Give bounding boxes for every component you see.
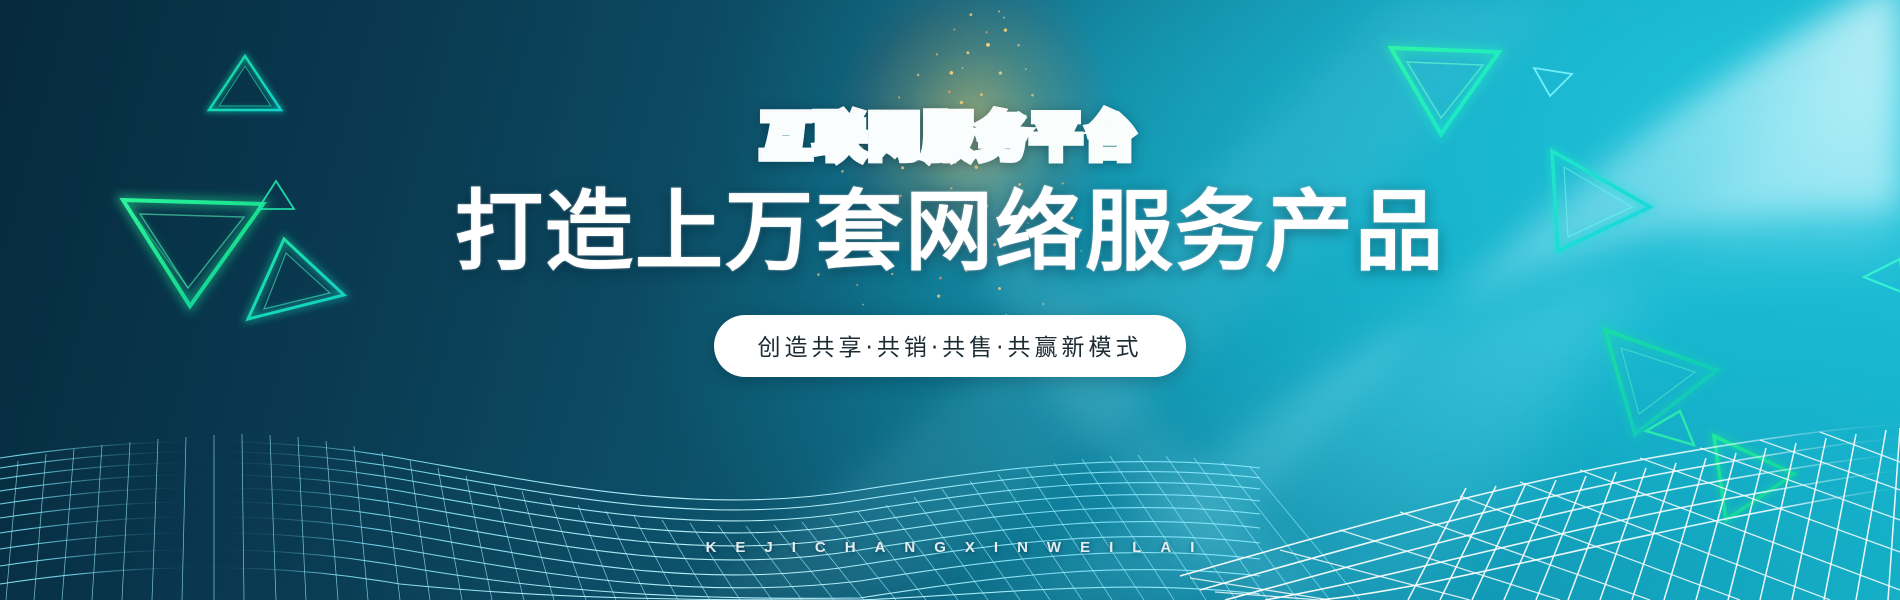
wave-wireframe-mesh bbox=[0, 340, 1900, 600]
slogan-text: 创造共享·共销·共售·共赢新模式 bbox=[758, 328, 1143, 362]
neon-triangle-1 bbox=[205, 52, 285, 116]
neon-triangle-3 bbox=[255, 178, 297, 214]
diagonal-light-swoosh bbox=[0, 0, 1900, 600]
neon-triangle-7 bbox=[1540, 145, 1656, 257]
neon-triangle-9 bbox=[1700, 430, 1800, 526]
neon-triangle-5 bbox=[1385, 40, 1505, 140]
neon-triangle-8 bbox=[1595, 320, 1723, 440]
neon-triangle-6 bbox=[1530, 62, 1576, 100]
slogan-pill: 创造共享·共销·共售·共赢新模式 bbox=[714, 315, 1187, 377]
neon-triangle-10 bbox=[1640, 405, 1698, 453]
banner-headline: 打造上万套网络服务产品 bbox=[455, 184, 1445, 279]
neon-triangle-4 bbox=[242, 235, 350, 325]
golden-particle-nebula bbox=[701, 0, 1220, 426]
golden-particle-dots bbox=[661, 0, 1239, 447]
pinyin-caption: KEJICHANGXINWEILAI bbox=[0, 539, 1900, 556]
neon-triangle-11 bbox=[1860, 255, 1900, 297]
banner-eyebrow: 互联网服务平台 bbox=[761, 112, 1139, 162]
neon-triangle-2 bbox=[118, 190, 268, 312]
hero-banner: 互联网服务平台 打造上万套网络服务产品 创造共享·共销·共售·共赢新模式 KEJ… bbox=[0, 0, 1900, 600]
banner-content: 互联网服务平台 打造上万套网络服务产品 创造共享·共销·共售·共赢新模式 bbox=[0, 0, 1900, 600]
